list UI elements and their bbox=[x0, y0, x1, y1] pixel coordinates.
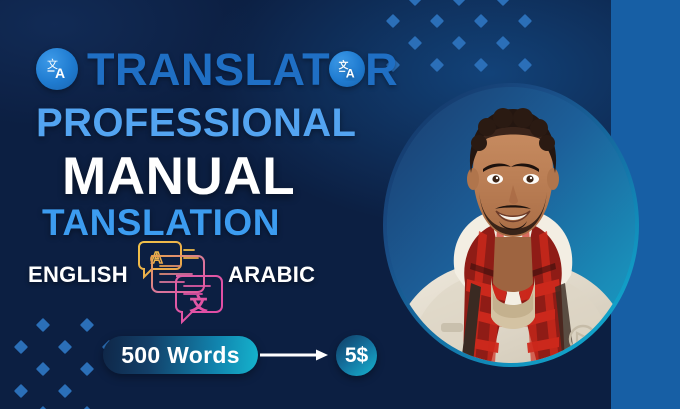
headline-professional: PROFESSIONAL bbox=[36, 101, 356, 146]
brand-wordmark: TRANSLAT 文 A R bbox=[78, 47, 398, 92]
offer-row: 500 Words 5$ bbox=[103, 333, 383, 379]
words-count-label: 500 Words bbox=[121, 342, 240, 369]
speech-bubbles-translate-illustration: A 文 bbox=[132, 236, 228, 333]
translate-icon: 文 A bbox=[36, 48, 78, 90]
price-badge: 5$ bbox=[336, 335, 377, 376]
brand-title-row: 文 A TRANSLAT 文 A R bbox=[36, 42, 398, 96]
svg-text:A: A bbox=[345, 66, 354, 80]
gig-thumbnail-banner: 文 A TRANSLAT 文 A R PROFESSIONAL MANUAL T… bbox=[0, 0, 680, 409]
svg-text:文: 文 bbox=[190, 295, 207, 315]
diamond-pattern-top-right bbox=[392, 0, 572, 94]
arrow-svg bbox=[260, 348, 332, 362]
avatar-photo bbox=[387, 87, 635, 363]
brand-text-after: R bbox=[365, 47, 398, 92]
translate-icon-inline: 文 A bbox=[329, 51, 365, 87]
smiling-man-portrait-illustration bbox=[387, 87, 635, 363]
speech-bubbles-svg: A 文 bbox=[132, 236, 228, 328]
words-count-pill: 500 Words bbox=[103, 336, 258, 374]
translate-glyph-inline: 文 A bbox=[336, 58, 359, 81]
headline-manual: MANUAL bbox=[62, 146, 295, 207]
price-label: 5$ bbox=[345, 344, 368, 368]
language-source-label: ENGLISH bbox=[28, 262, 128, 288]
language-pair-row: ENGLISH A bbox=[28, 258, 338, 292]
avatar bbox=[383, 83, 639, 367]
translate-glyph: 文 A bbox=[44, 56, 70, 82]
right-arrow-icon bbox=[260, 348, 332, 367]
brand-text-before: TRANSLAT bbox=[87, 47, 330, 92]
language-target-label: ARABIC bbox=[228, 262, 315, 288]
svg-text:A: A bbox=[55, 65, 65, 81]
